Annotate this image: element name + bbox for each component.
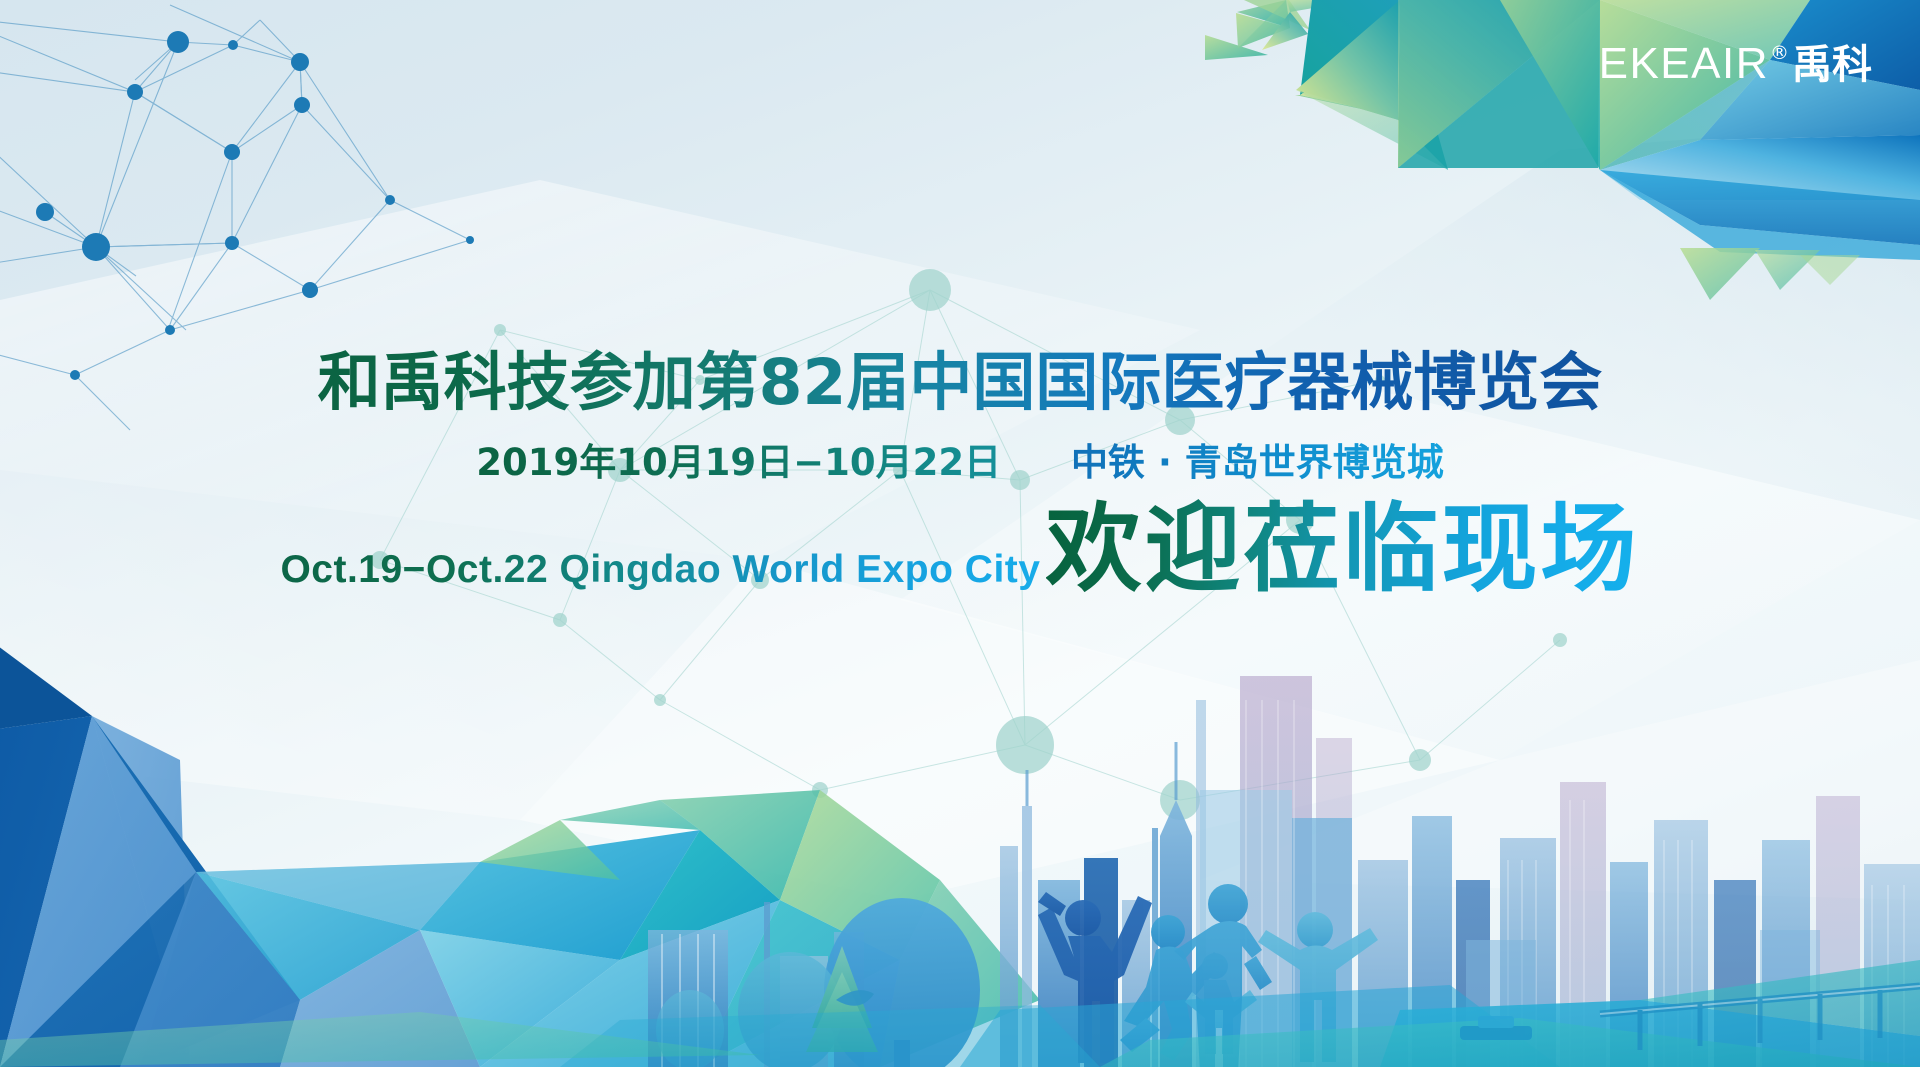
event-date-venue-line: 2019年10月19日−10月22日 中铁 · 青岛世界博览城 [0, 441, 1920, 485]
logo-wordmark: EKEAIR [1599, 42, 1769, 86]
logo-chinese-name: 禹科 [1792, 45, 1872, 85]
registered-trademark-icon: ® [1770, 44, 1789, 63]
page-title: 和禹科技参加第82届中国国际医疗器械博览会 [318, 348, 1603, 419]
banner-text-block: 和禹科技参加第82届中国国际医疗器械博览会 2019年10月19日−10月22日… [0, 348, 1920, 603]
welcome-slogan: 欢迎莅临现场 [1046, 497, 1640, 603]
event-english-subtitle: Oct.19−Oct.22 Qingdao World Expo City [280, 548, 1040, 593]
event-date: 2019年10月19日−10月22日 [476, 441, 1001, 485]
event-venue: 中铁 · 青岛世界博览城 [1071, 441, 1444, 485]
promotional-banner: EKEAIR ® 禹科 和禹科技参加第82届中国国际医疗器械博览会 2019年1… [0, 0, 1920, 1067]
brand-logo[interactable]: EKEAIR ® 禹科 [1599, 42, 1872, 86]
